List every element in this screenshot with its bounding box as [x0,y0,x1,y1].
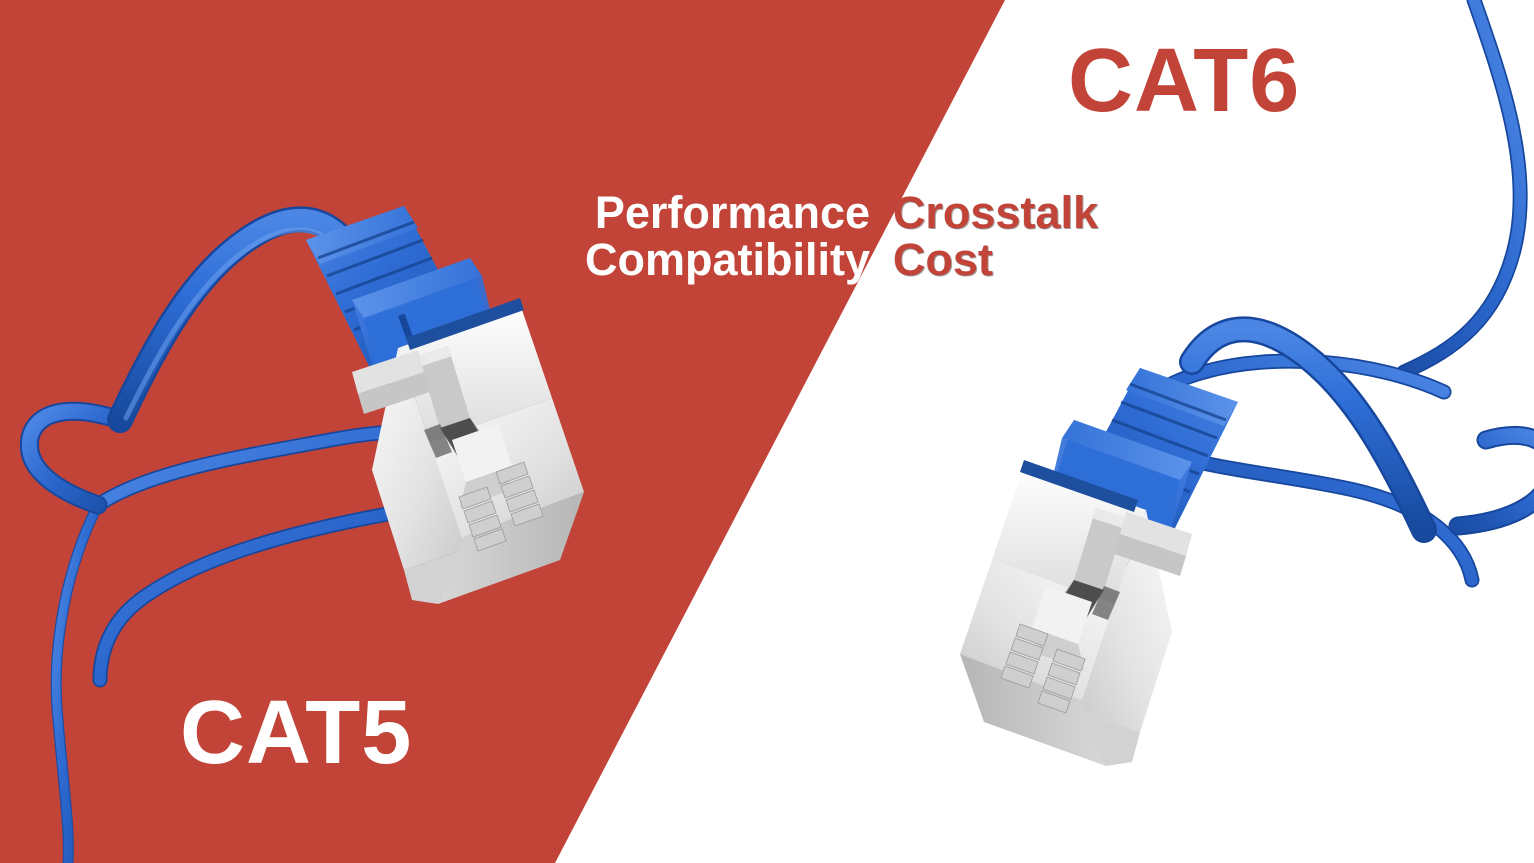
cat6-title: CAT6 [1068,36,1300,126]
left-feature-compatibility: Compatibility [0,237,872,284]
left-feature-list: Performance Compatibility [0,190,872,284]
left-feature-performance: Performance [0,190,872,237]
comparison-graphic: CAT5 CAT6 Performance Compatibility Cros… [0,0,1534,863]
right-feature-cost: Cost [893,237,1098,284]
right-feature-crosstalk: Crosstalk [893,190,1098,237]
cat5-title: CAT5 [180,688,412,778]
right-feature-list: Crosstalk Cost [893,190,1098,284]
